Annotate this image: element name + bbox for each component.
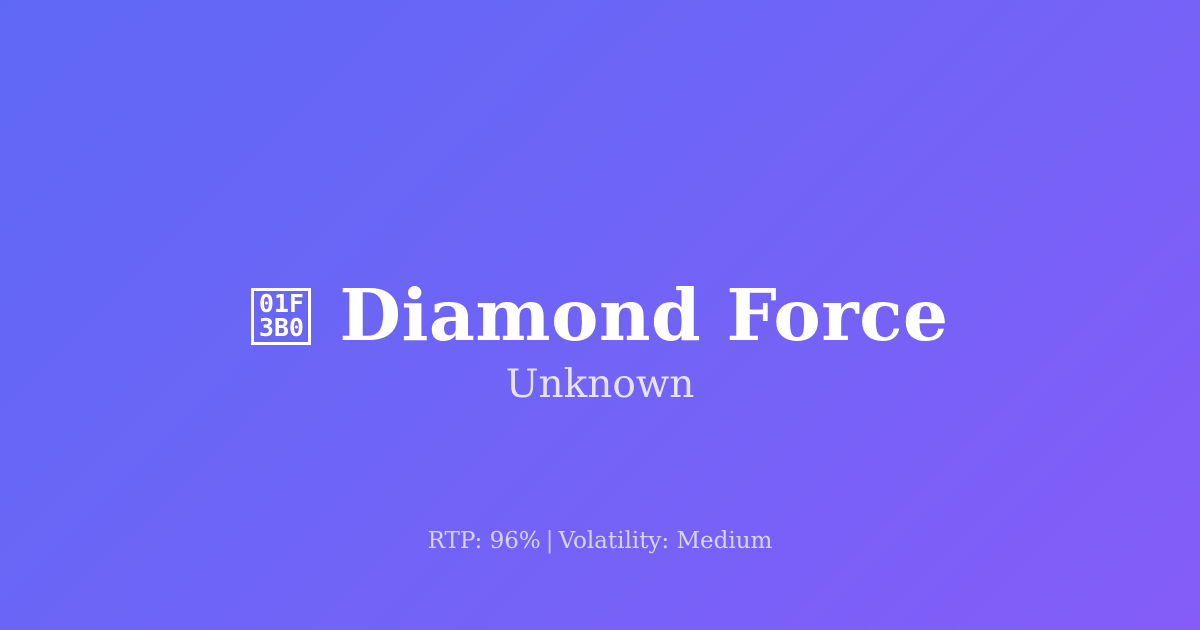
game-meta: RTP: 96%|Volatility: Medium — [0, 528, 1200, 556]
game-title: Diamond Force — [339, 280, 948, 351]
game-og-card: 01F 3B0 Diamond Force Unknown RTP: 96%|V… — [0, 0, 1200, 630]
meta-separator: | — [541, 528, 559, 554]
volatility-value: Volatility: Medium — [558, 528, 772, 554]
rtp-value: RTP: 96% — [428, 528, 541, 554]
slot-machine-emoji-icon: 01F 3B0 — [251, 288, 311, 345]
tofu-codepoint-bottom: 3B0 — [259, 316, 304, 340]
game-provider: Unknown — [0, 362, 1200, 409]
